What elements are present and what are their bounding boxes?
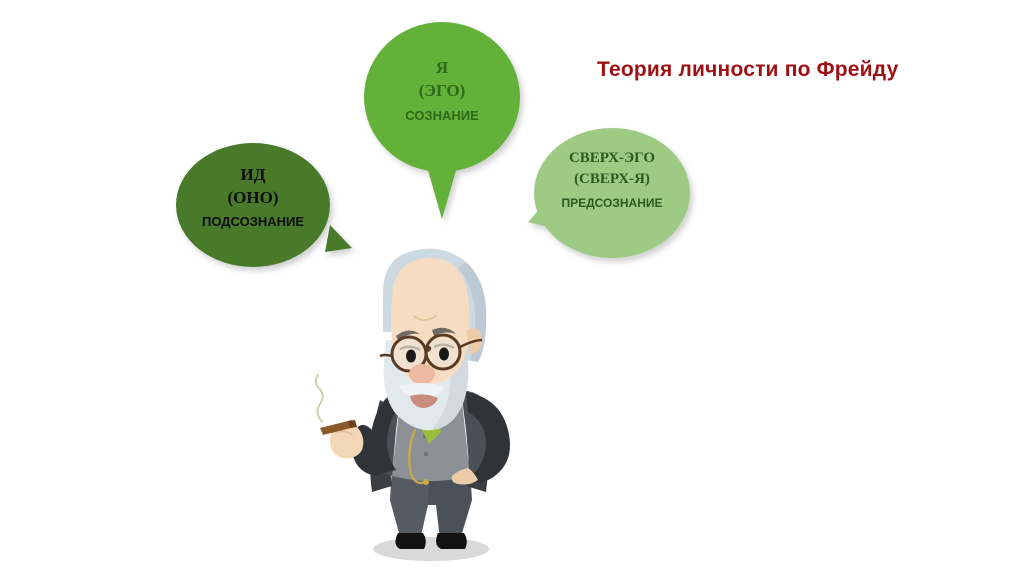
- slide-canvas: Теория личности по Фрейду ИД (ОНО) ПОДСО…: [0, 0, 1024, 574]
- freud-figure: [316, 249, 510, 561]
- bubble-superego-shape[interactable]: [528, 128, 690, 258]
- bubble-id-shape[interactable]: [176, 143, 352, 267]
- ground-shadow: [373, 537, 489, 561]
- smoke-icon: [316, 375, 323, 422]
- nose: [409, 364, 435, 384]
- illustration-canvas: [0, 0, 1024, 574]
- bubble-ego-shape[interactable]: [364, 22, 520, 219]
- page-title: Теория личности по Фрейду: [597, 58, 898, 82]
